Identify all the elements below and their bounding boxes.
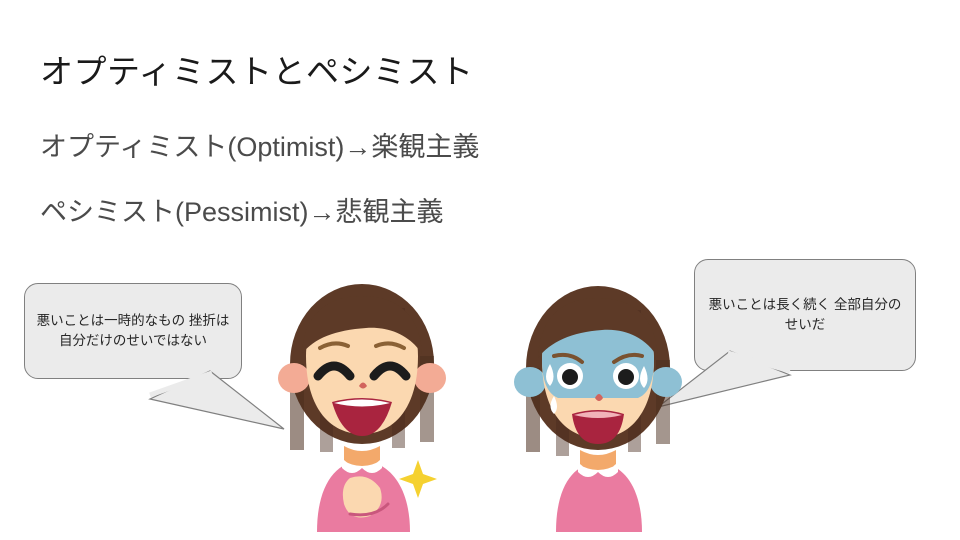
sparkle-icon xyxy=(399,460,437,498)
illustration-pessimist-woman xyxy=(498,282,698,532)
speech-bubble-right: 悪いことは長く続く 全部自分のせいだ xyxy=(694,259,916,371)
slide-canvas: オプティミストとペシミスト オプティミスト(Optimist)→楽観主義 ペシミ… xyxy=(0,0,960,540)
ear-left xyxy=(278,363,310,393)
speech-bubble-right-text: 悪いことは長く続く 全部自分のせいだ xyxy=(705,295,905,336)
speech-bubble-left-text: 悪いことは一時的なもの 挫折は自分だけのせいではない xyxy=(35,311,231,352)
speech-bubble-left: 悪いことは一時的なもの 挫折は自分だけのせいではない xyxy=(24,283,242,379)
body-line-optimist: オプティミスト(Optimist)→楽観主義 xyxy=(40,131,479,165)
illustration-optimist-woman xyxy=(262,282,462,532)
ear-right xyxy=(650,367,682,397)
pupil-left xyxy=(562,369,578,385)
ear-right xyxy=(414,363,446,393)
body-line-pessimist: ペシミスト(Pessimist)→悲観主義 xyxy=(40,196,444,230)
pupil-right xyxy=(618,369,634,385)
page-title: オプティミストとペシミスト xyxy=(40,52,474,92)
ear-left xyxy=(514,367,546,397)
